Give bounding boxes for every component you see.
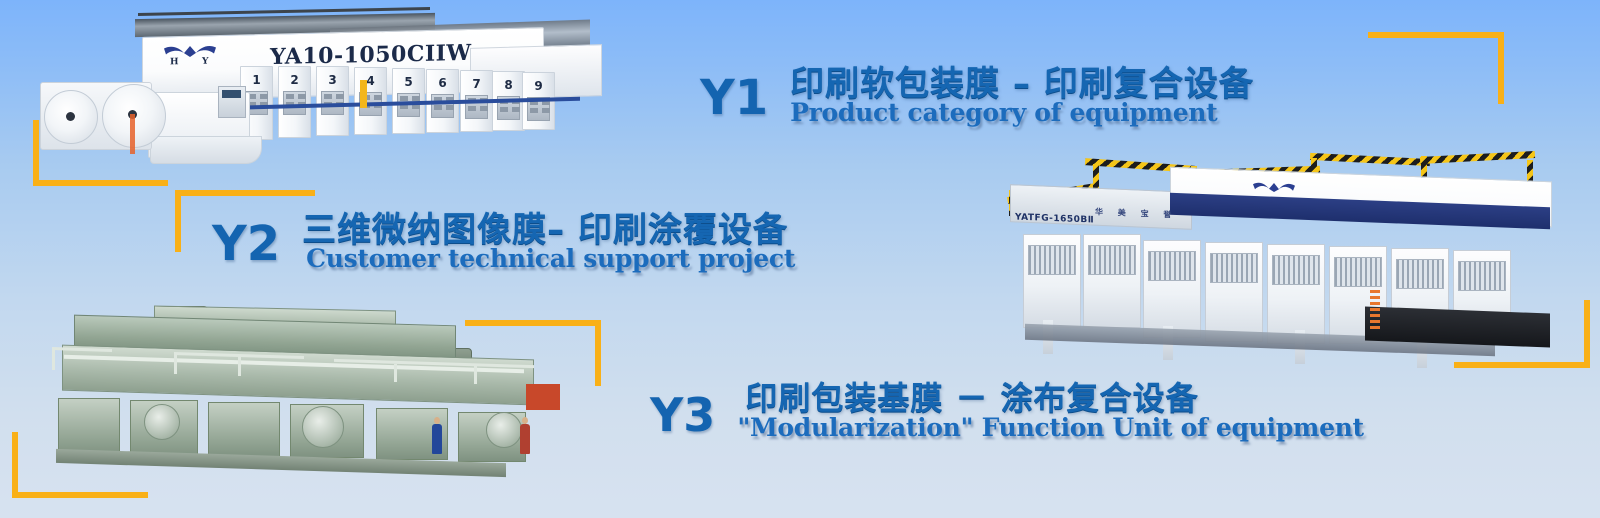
entry-y1-text: 印刷软包装膜 – 印刷复合设备 Product category of equi… [790, 66, 1254, 126]
operator-figure [432, 424, 442, 454]
entry-y1: Y1 印刷软包装膜 – 印刷复合设备 Product category of e… [700, 66, 1254, 126]
press-unit-panel [283, 91, 306, 115]
laminator-roller-bank [1088, 245, 1136, 275]
coater-guardrail-post [474, 366, 477, 384]
bracket-y1-right-vertical [1498, 32, 1504, 104]
press-lower-skirt [150, 136, 262, 164]
press-control-console [218, 86, 246, 118]
laminator-roller-bank [1028, 245, 1076, 275]
coater-red-panel [526, 384, 560, 410]
press-unit-number: 5 [393, 75, 424, 89]
laminator-dark-unwind-section [1365, 306, 1550, 347]
coater-station [58, 398, 120, 456]
coater-guardrail-post [174, 354, 177, 374]
entry-y3-english: "Modularization" Function Unit of equipm… [737, 415, 1363, 441]
machine-image-coating-line [34, 306, 574, 481]
press-unit-number: 6 [427, 76, 458, 90]
press-unit-number: 2 [279, 73, 310, 87]
hy-brand-logo-icon: H Y [160, 41, 220, 66]
entry-y3-text: 印刷包装基膜 － 涂布复合设备 "Modularization" Functio… [737, 382, 1363, 441]
hazard-railing [1420, 151, 1535, 164]
press-unit-number: 7 [461, 77, 492, 91]
coater-guardrail-post [394, 364, 397, 382]
press-roll-hub [66, 112, 75, 121]
entry-y2-chinese: 三维微纳图像膜– 印刷涂覆设备 [302, 212, 795, 248]
bracket-y2-vertical [175, 190, 181, 252]
bracket-y1-right-horizontal [1368, 32, 1504, 38]
laminator-roller-bank [1396, 259, 1444, 289]
laminator-roller-bank [1458, 261, 1506, 291]
press-unit-number: 1 [241, 73, 272, 87]
svg-text:H: H [170, 57, 179, 66]
press-print-unit: 2 [278, 66, 311, 138]
coater-roller [486, 412, 522, 448]
coater-station [208, 402, 280, 458]
product-category-banner: H Y YA10-1050CIIW 1 2 3 4 5 6 [0, 0, 1600, 518]
press-unit-number: 8 [493, 78, 524, 92]
laminator-station [1267, 244, 1325, 344]
entry-y2-text: 三维微纳图像膜– 印刷涂覆设备 Customer technical suppo… [302, 212, 795, 272]
laminator-model-label: YATFG-1650BⅡ [1015, 212, 1094, 225]
machine-image-coating-laminator: YATFG-1650BⅡ 华 美 宝 誉 [965, 150, 1585, 365]
laminator-roller-bank [1334, 257, 1382, 287]
bracket-y2-top-horizontal [175, 190, 315, 196]
press-unit-number: 9 [523, 79, 554, 93]
press-orange-web-guide [130, 114, 135, 154]
bracket-y3-left-vertical [12, 432, 18, 498]
coater-roller [302, 406, 344, 448]
entry-y3: Y3 印刷包装基膜 － 涂布复合设备 "Modularization" Func… [650, 382, 1364, 441]
press-unit-panel [431, 94, 454, 118]
hy-brand-logo-icon [1250, 179, 1298, 199]
bracket-y3-vertical [595, 320, 601, 386]
hazard-railing [1310, 153, 1430, 166]
svg-text:Y: Y [201, 57, 209, 67]
coater-guardrail-post [238, 356, 241, 376]
laminator-station [1023, 234, 1081, 328]
entry-y1-code: Y1 [700, 74, 768, 122]
operator-figure [520, 424, 530, 454]
press-print-unit: 3 [316, 66, 349, 136]
press-unit-number: 3 [317, 73, 348, 87]
entry-y3-code: Y3 [650, 392, 715, 438]
laminator-station [1083, 234, 1141, 328]
entry-y1-english: Product category of equipment [790, 100, 1254, 126]
entry-y2: Y2 三维微纳图像膜– 印刷涂覆设备 Customer technical su… [212, 212, 795, 272]
press-yellow-indicator [360, 80, 367, 108]
laminator-station [1205, 242, 1263, 342]
coater-guardrail-post [52, 348, 55, 370]
entry-y2-code: Y2 [212, 220, 280, 268]
entry-y3-chinese: 印刷包装基膜 － 涂布复合设备 [745, 382, 1363, 416]
coater-roller [144, 404, 180, 440]
bracket-y3-left-horizontal [12, 492, 148, 498]
laminator-roller-bank [1210, 253, 1258, 283]
laminator-orange-hose [1370, 290, 1380, 332]
entry-y2-english: Customer technical support project [306, 246, 795, 272]
laminator-roller-bank [1272, 255, 1320, 285]
entry-y1-chinese: 印刷软包装膜 – 印刷复合设备 [790, 66, 1254, 102]
laminator-station [1143, 240, 1201, 338]
machine-image-gravure-press: H Y YA10-1050CIIW 1 2 3 4 5 6 [30, 6, 595, 184]
laminator-roller-bank [1148, 251, 1196, 281]
